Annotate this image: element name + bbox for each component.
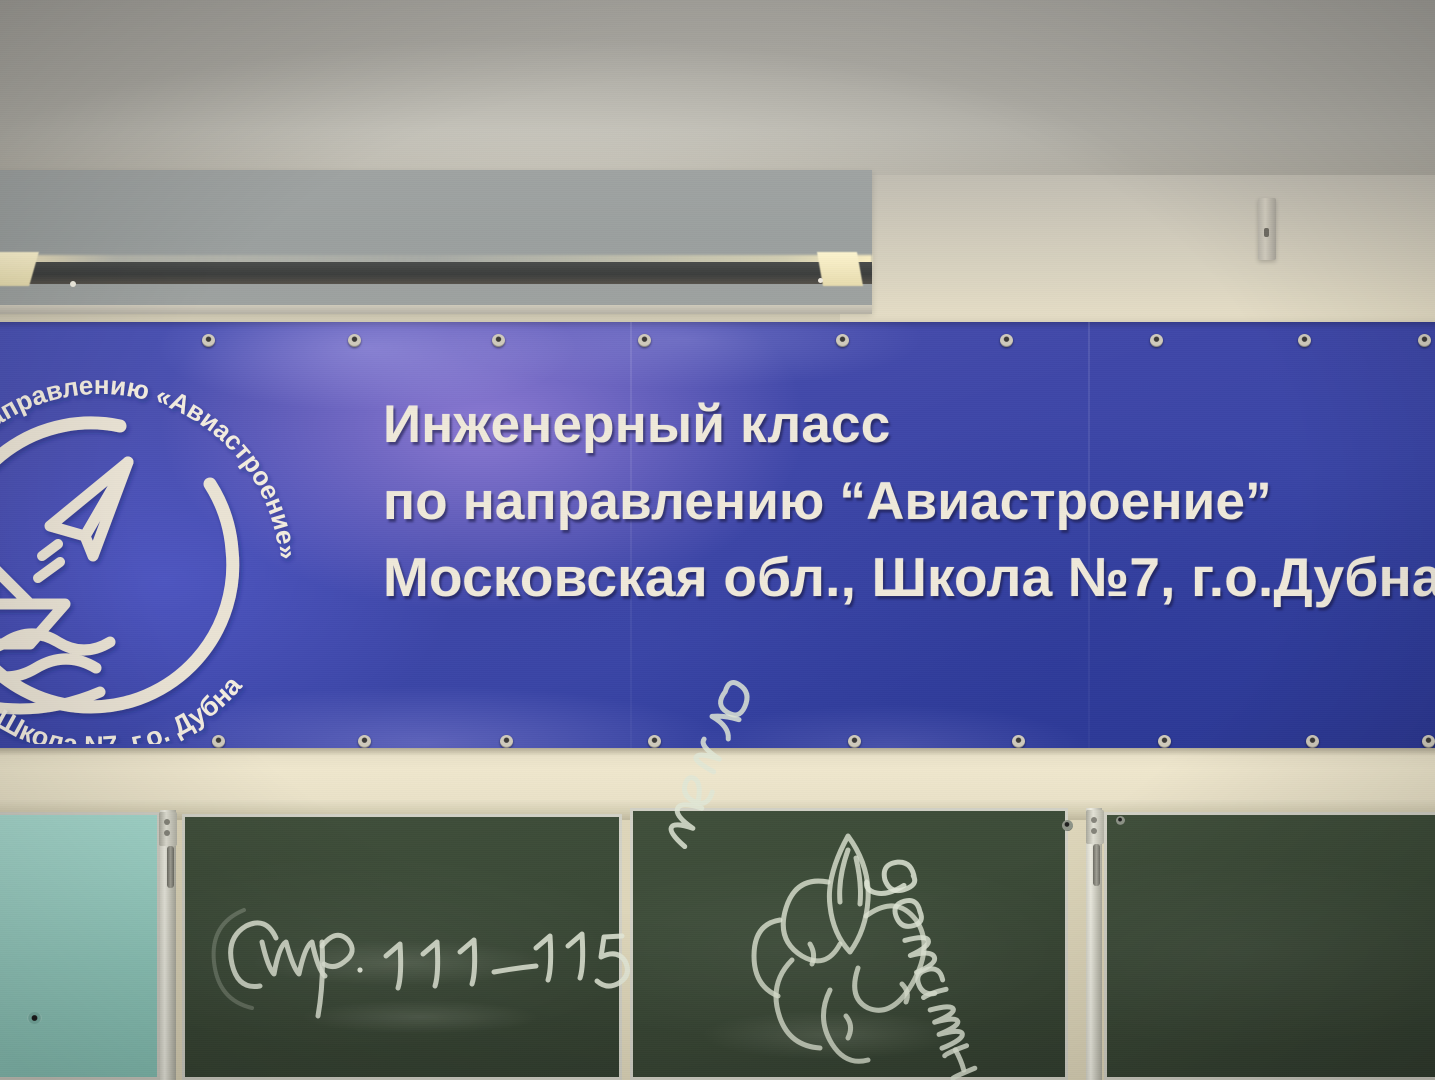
chalkboard-center <box>630 808 1068 1080</box>
banner-logo: й класс по направлению «Авиастроение» ов… <box>0 344 310 744</box>
banner-text-block: Инженерный класс по направлению “Авиастр… <box>383 398 1433 605</box>
fixture-screw-right <box>818 278 823 283</box>
board-screw-right <box>1116 816 1125 825</box>
board-hinge-rod-left <box>167 846 174 888</box>
banner-grommet-bottom <box>500 735 513 748</box>
banner-grommet-bottom <box>648 735 661 748</box>
banner-grommet-top <box>1000 334 1013 347</box>
banner-grommet-bottom <box>1422 735 1435 748</box>
banner-grommet-bottom <box>1306 735 1319 748</box>
banner-grommet-top <box>348 334 361 347</box>
valance-bottom-edge <box>0 305 872 314</box>
teal-panel <box>0 812 160 1080</box>
banner-grommet-top <box>638 334 651 347</box>
chalkboard-left <box>182 814 622 1080</box>
teal-panel-nick <box>27 1012 42 1024</box>
banner-grommet-top <box>1150 334 1163 347</box>
banner-grommet-bottom <box>848 735 861 748</box>
banner-grommet-top <box>1298 334 1311 347</box>
classroom-photo: й класс по направлению «Авиастроение» ов… <box>0 0 1435 1080</box>
banner-grommet-top <box>836 334 849 347</box>
board-hinge-rod-right <box>1093 844 1100 886</box>
banner-grommet-top <box>1418 334 1431 347</box>
logo-arc-top-text: й класс по направлению «Авиастроение» <box>0 370 303 563</box>
chalkboard-right <box>1104 812 1435 1080</box>
banner-grommet-bottom <box>1012 735 1025 748</box>
light-tube-slot <box>0 262 872 284</box>
ceiling-bracket <box>1258 198 1276 260</box>
board-hinge-left <box>159 812 177 846</box>
board-screw-center <box>1062 820 1073 831</box>
banner-line-2: по направлению “Авиастроение” <box>383 475 1433 528</box>
fixture-screw-left <box>70 281 76 287</box>
light-endcap-right <box>817 252 863 286</box>
banner-grommet-bottom <box>1158 735 1171 748</box>
lower-wall-shadow <box>0 748 1435 756</box>
banner-grommet-top <box>202 334 215 347</box>
banner-line-3: Московская обл., Школа №7, г.о.Дубна <box>383 550 1433 605</box>
banner-line-1: Инженерный класс <box>383 398 1433 451</box>
light-fixture-valance <box>0 170 872 312</box>
banner-grommet-bottom <box>212 735 225 748</box>
upper-wall-right <box>840 175 1435 330</box>
board-hinge-right <box>1086 810 1104 844</box>
banner-grommet-bottom <box>358 735 371 748</box>
banner-grommet-top <box>492 334 505 347</box>
